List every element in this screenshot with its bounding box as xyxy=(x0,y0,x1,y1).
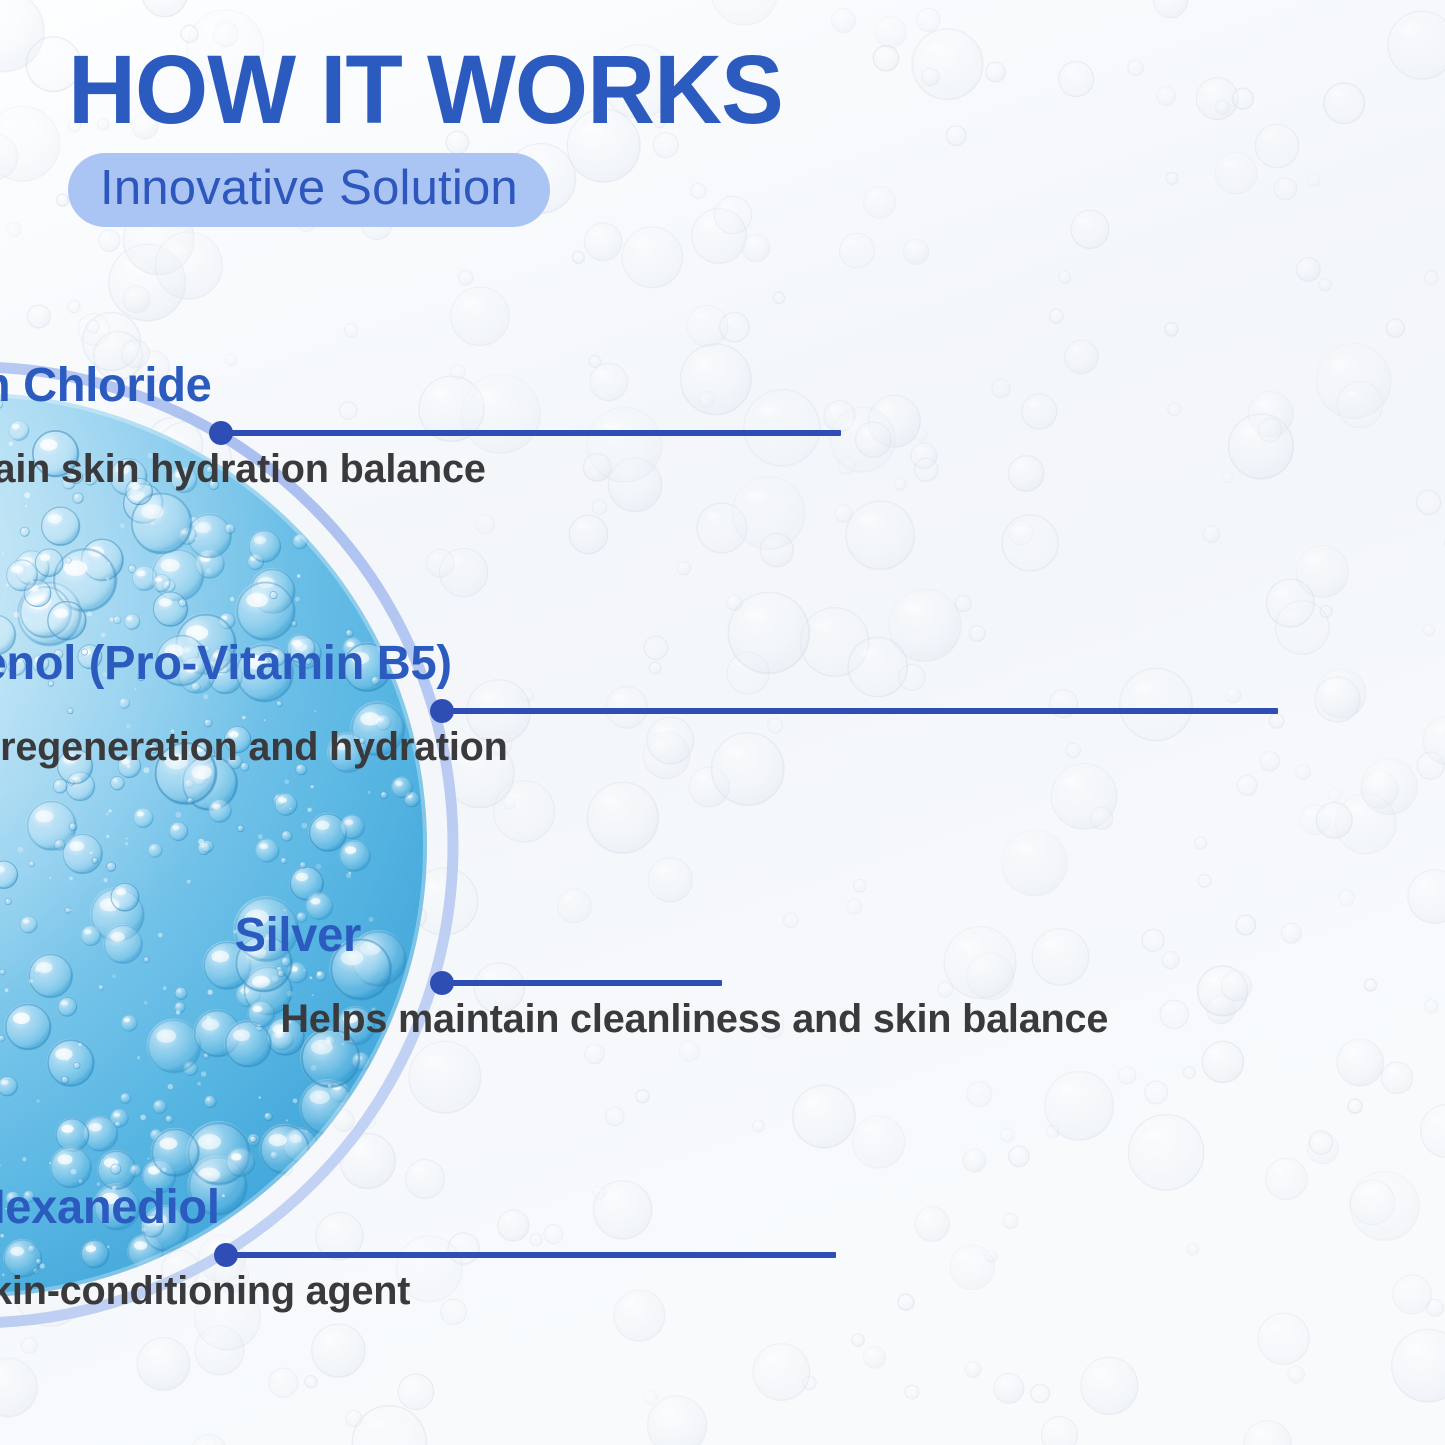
callout-description: Supports skin regeneration and hydration xyxy=(0,725,508,770)
callout-dot-icon xyxy=(430,699,454,723)
callout-title: Silver xyxy=(235,908,361,963)
header-block: HOW IT WORKS Innovative Solution xyxy=(68,42,805,227)
callout-line xyxy=(226,1252,836,1258)
callout-title: 1,2-Hexanediol xyxy=(0,1180,220,1235)
callout-line xyxy=(221,430,841,436)
infographic-canvas: HOW IT WORKS Innovative Solution Sodium … xyxy=(0,0,1445,1445)
callout-line xyxy=(442,980,722,986)
subtitle-badge: Innovative Solution xyxy=(68,153,550,227)
callout-line xyxy=(442,708,1278,714)
callout-description: Helps maintain skin hydration balance xyxy=(0,447,486,492)
page-title: HOW IT WORKS xyxy=(68,42,783,137)
callout-dot-icon xyxy=(430,971,454,995)
callout-description: Helps maintain cleanliness and skin bala… xyxy=(280,997,1108,1042)
callout-title: Panthenol (Pro-Vitamin B5) xyxy=(0,636,452,691)
callout-description: Acts as a skin-conditioning agent xyxy=(0,1269,410,1314)
callout-dot-icon xyxy=(214,1243,238,1267)
callout-title: Sodium Chloride xyxy=(0,358,212,413)
callout-dot-icon xyxy=(209,421,233,445)
subtitle-badge-label: Innovative Solution xyxy=(100,161,518,215)
